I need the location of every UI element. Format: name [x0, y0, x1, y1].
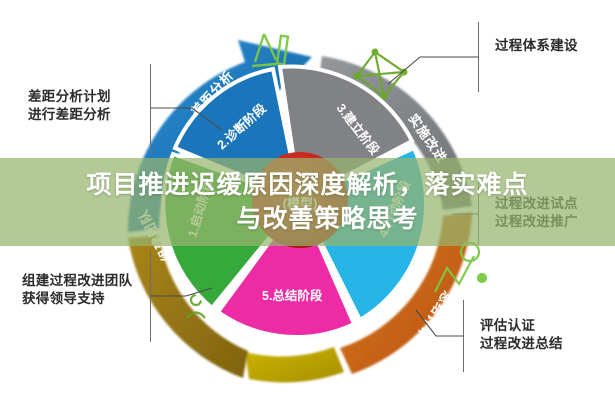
callout-process-system-line-1: 过程体系建设	[495, 37, 578, 55]
overlay-title-line-1: 项目推进迟缓原因深度解析，落实难点	[86, 168, 528, 202]
callout-gap-analysis: 差距分析计划 进行差距分析	[28, 88, 111, 124]
callout-build-team: 组建过程改进团队 获得领导支持	[22, 272, 132, 308]
overlay-title-line-2: 与改善策略思考	[196, 202, 418, 236]
callout-assessment: 评估认证 过程改进总结	[472, 317, 563, 353]
tickbar-build-team	[150, 250, 151, 342]
callout-process-system: 过程体系建设	[487, 37, 578, 55]
callout-build-team-line-2: 获得领导支持	[22, 290, 132, 308]
overlay-title: 项目推进迟缓原因深度解析，落实难点 与改善策略思考	[0, 158, 615, 246]
callout-gap-analysis-line-1: 差距分析计划	[28, 88, 111, 106]
callout-gap-analysis-line-2: 进行差距分析	[28, 106, 111, 124]
callout-build-team-line-1: 组建过程改进团队	[22, 272, 132, 290]
ring-segment-middle	[245, 347, 344, 382]
callout-assessment-line-1: 评估认证	[480, 317, 563, 335]
diagram-canvas: 差距分析 实施改进 总结评审 组建团队 1.启动阶段 2.诊断阶段 3.建立阶段…	[0, 0, 615, 400]
callout-assessment-line-2: 过程改进总结	[480, 335, 563, 353]
tickbar-process-system	[478, 22, 479, 92]
stage-label-5: 5.总结阶段	[262, 288, 323, 303]
tickbar-assessment	[463, 300, 464, 372]
tickbar-gap-analysis	[150, 64, 151, 152]
